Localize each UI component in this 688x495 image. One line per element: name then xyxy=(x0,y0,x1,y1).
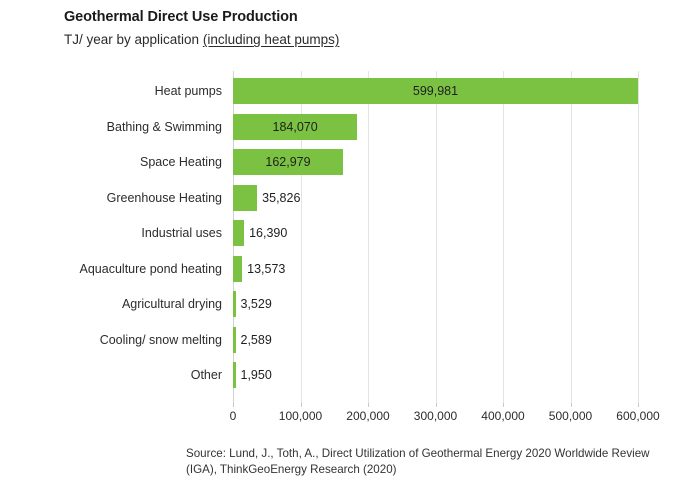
category-label: Greenhouse Heating xyxy=(107,185,222,211)
bar[interactable] xyxy=(233,220,244,246)
bar-row: Heat pumps599,981 xyxy=(233,78,638,104)
bar-value-label: 599,981 xyxy=(233,78,638,104)
x-tick-mark xyxy=(301,403,302,407)
category-label: Cooling/ snow melting xyxy=(100,327,222,353)
x-tick-mark xyxy=(233,403,234,407)
bar[interactable] xyxy=(233,291,236,317)
x-tick-label: 100,000 xyxy=(279,409,322,423)
x-tick-mark xyxy=(503,403,504,407)
bar[interactable] xyxy=(233,256,242,282)
title-block: Geothermal Direct Use Production TJ/ yea… xyxy=(64,8,664,49)
x-tick-mark xyxy=(368,403,369,407)
bar[interactable] xyxy=(233,362,236,388)
category-label: Agricultural drying xyxy=(122,291,222,317)
x-tick-label: 200,000 xyxy=(346,409,389,423)
bar-row: Space Heating162,979 xyxy=(233,149,638,175)
bar-value-label: 35,826 xyxy=(262,185,300,211)
bar-value-label: 16,390 xyxy=(249,220,287,246)
chart-subtitle-prefix: TJ/ year by application xyxy=(64,32,203,47)
bar-value-label: 2,589 xyxy=(241,327,272,353)
x-tick-label: 500,000 xyxy=(549,409,592,423)
bar-value-label: 1,950 xyxy=(241,362,272,388)
bar-row: Industrial uses16,390 xyxy=(233,220,638,246)
x-tick-label: 0 xyxy=(230,409,237,423)
category-label: Aquaculture pond heating xyxy=(80,256,222,282)
bar-value-label: 3,529 xyxy=(241,291,272,317)
bar[interactable] xyxy=(233,327,236,353)
bar-row: Greenhouse Heating35,826 xyxy=(233,185,638,211)
x-tick-label: 400,000 xyxy=(481,409,524,423)
bar[interactable] xyxy=(233,185,257,211)
x-tick-label: 600,000 xyxy=(616,409,659,423)
bar-row: Aquaculture pond heating13,573 xyxy=(233,256,638,282)
category-label: Other xyxy=(191,362,222,388)
category-label: Heat pumps xyxy=(155,78,222,104)
chart-subtitle: TJ/ year by application (including heat … xyxy=(64,30,664,49)
category-label: Bathing & Swimming xyxy=(107,114,222,140)
category-label: Industrial uses xyxy=(141,220,222,246)
x-tick-mark xyxy=(436,403,437,407)
chart-figure: Geothermal Direct Use Production TJ/ yea… xyxy=(0,0,688,495)
bar-value-label: 162,979 xyxy=(233,149,343,175)
chart-subtitle-emphasis: (including heat pumps) xyxy=(203,32,340,47)
x-axis: 0100,000200,000300,000400,000500,000600,… xyxy=(233,403,638,425)
bar-row: Other1,950 xyxy=(233,362,638,388)
x-tick-mark xyxy=(638,403,639,407)
bar-row: Cooling/ snow melting2,589 xyxy=(233,327,638,353)
bar-row: Bathing & Swimming184,070 xyxy=(233,114,638,140)
bar-value-label: 184,070 xyxy=(233,114,357,140)
plot-area: Heat pumps599,981Bathing & Swimming184,0… xyxy=(233,71,638,403)
x-tick-mark xyxy=(571,403,572,407)
x-tick-label: 300,000 xyxy=(414,409,457,423)
gridline xyxy=(638,71,639,403)
category-label: Space Heating xyxy=(140,149,222,175)
bar-row: Agricultural drying3,529 xyxy=(233,291,638,317)
source-note: Source: Lund, J., Toth, A., Direct Utili… xyxy=(186,446,656,478)
chart-title: Geothermal Direct Use Production xyxy=(64,8,664,26)
bar-value-label: 13,573 xyxy=(247,256,285,282)
